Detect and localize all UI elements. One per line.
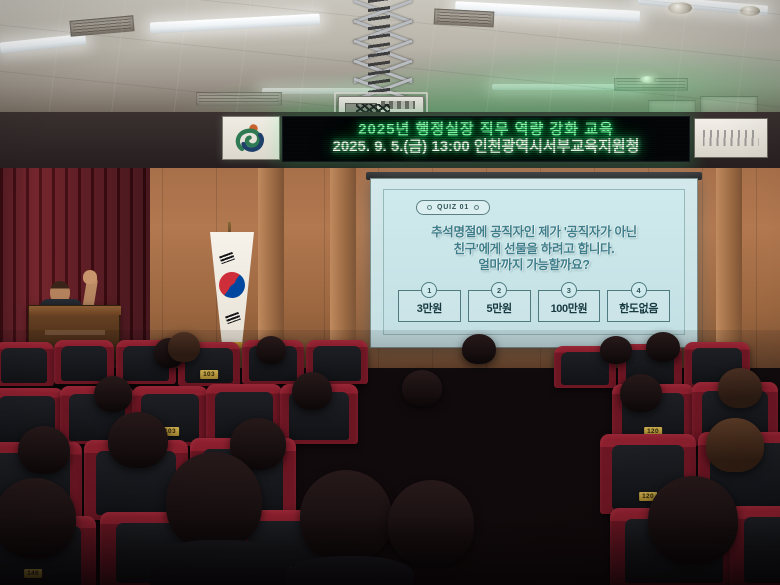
audience-shoulders xyxy=(150,540,290,585)
ceiling-air-vent xyxy=(196,92,282,106)
audience-head xyxy=(718,368,762,408)
ceiling-air-vent xyxy=(614,78,688,91)
quiz-option-1[interactable]: 1 3만원 xyxy=(398,290,461,322)
recessed-downlight xyxy=(740,6,760,16)
led-banner-line1: 2025년 행정실장 직무 역량 강화 교육 xyxy=(283,122,689,138)
quiz-question-line-1: 추석명절에 공직자인 제가 '공직자가 아닌 xyxy=(394,224,674,241)
quiz-label-text: QUIZ 01 xyxy=(437,204,469,211)
audience-head xyxy=(0,478,76,558)
auditorium-photo: 2025년 행정실장 직무 역량 강화 교육 2025. 9. 5.(금) 13… xyxy=(0,0,780,585)
quiz-question: 추석명절에 공직자인 제가 '공직자가 아닌 친구'에게 선물을 하려고 합니다… xyxy=(394,224,674,274)
quiz-option-4[interactable]: 4 한도없음 xyxy=(607,290,670,322)
led-scrolling-banner: 2025년 행정실장 직무 역량 강화 교육 2025. 9. 5.(금) 13… xyxy=(282,116,690,162)
ceiling-air-vent xyxy=(69,15,134,37)
option-text-3: 100만원 xyxy=(551,300,588,316)
audience-shoulders xyxy=(286,556,414,585)
audience-head xyxy=(706,418,764,472)
fluorescent-light-tube xyxy=(150,14,320,34)
recessed-downlight xyxy=(668,2,692,14)
seat[interactable] xyxy=(0,342,54,386)
pill-dot-left xyxy=(427,205,432,210)
quiz-options: 1 3만원 2 5만원 3 100만원 4 한도없음 xyxy=(398,290,670,322)
audience-head xyxy=(388,480,474,566)
quiz-option-3[interactable]: 3 100만원 xyxy=(538,290,601,322)
audience-head xyxy=(646,332,680,362)
audience-head xyxy=(620,374,662,412)
audience-head xyxy=(402,370,442,406)
option-text-1: 3만원 xyxy=(417,300,442,316)
audience-head xyxy=(300,470,392,562)
audience-head xyxy=(94,376,132,412)
option-text-4: 한도없음 xyxy=(619,300,658,316)
flag-taeguk-symbol xyxy=(214,267,249,302)
audience-head xyxy=(166,452,262,550)
audience-head xyxy=(600,336,632,364)
audience-head xyxy=(256,336,286,364)
pill-dot-right xyxy=(474,205,479,210)
quiz-option-2[interactable]: 2 5만원 xyxy=(468,290,531,322)
flag-trigram xyxy=(225,312,241,324)
quiz-question-line-2: 친구'에게 선물을 하려고 합니다. xyxy=(394,241,674,258)
audience-head xyxy=(648,476,738,564)
presenter-hand xyxy=(83,270,97,284)
projection-screen: QUIZ 01 추석명절에 공직자인 제가 '공직자가 아닌 친구'에게 선물을… xyxy=(370,178,698,348)
option-text-2: 5만원 xyxy=(487,300,512,316)
projector-cable-bundle xyxy=(368,0,390,100)
fluorescent-light-tube xyxy=(492,84,642,90)
audience-head xyxy=(462,334,496,364)
seat-number-tag: 146 xyxy=(24,569,42,578)
sign-text-blur xyxy=(703,130,759,146)
quiz-label-pill: QUIZ 01 xyxy=(416,200,490,215)
option-number-4: 4 xyxy=(631,282,647,298)
audience-head xyxy=(108,412,168,468)
fluorescent-light-tube xyxy=(0,34,86,54)
option-number-3: 3 xyxy=(561,282,577,298)
option-number-1: 1 xyxy=(421,282,437,298)
audience-head xyxy=(292,372,332,410)
korean-government-emblem-icon xyxy=(234,123,268,153)
led-banner-line2: 2025. 9. 5.(금) 13:00 인천광역시서부교육지원청 xyxy=(283,139,689,156)
audience-head xyxy=(18,426,70,474)
seat-number-tag: 103 xyxy=(200,370,218,379)
fluorescent-light-tube xyxy=(638,0,768,16)
recessed-downlight xyxy=(640,76,656,83)
fluorescent-light-tube xyxy=(455,1,640,23)
audience-head xyxy=(168,332,200,362)
wall-notice-sign xyxy=(694,118,768,158)
korean-government-emblem-panel xyxy=(222,116,280,160)
quiz-slide: QUIZ 01 추석명절에 공직자인 제가 '공직자가 아닌 친구'에게 선물을… xyxy=(383,189,685,335)
ceiling-air-vent xyxy=(434,8,495,27)
option-number-2: 2 xyxy=(491,282,507,298)
quiz-question-line-3: 얼마까지 가능할까요? xyxy=(394,257,674,274)
audience-seating: 103 103 120 120 xyxy=(0,330,780,585)
flag-trigram xyxy=(219,252,235,264)
